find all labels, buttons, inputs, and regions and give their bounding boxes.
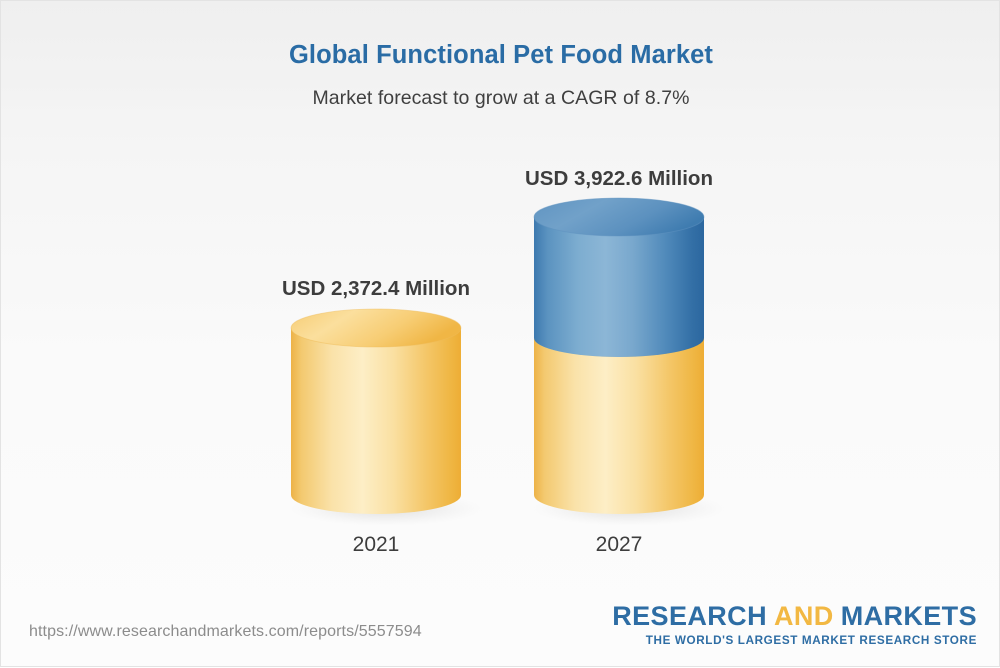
bar-2021 xyxy=(290,309,482,526)
logo-word-markets: MARKETS xyxy=(841,601,977,631)
source-url[interactable]: https://www.researchandmarkets.com/repor… xyxy=(29,623,422,641)
plot-area: USD 2,372.4 Million USD 3,922.6 Million … xyxy=(1,1,1000,668)
chart-canvas: Global Functional Pet Food Market Market… xyxy=(0,0,1000,667)
category-label-2021: 2021 xyxy=(291,533,461,557)
value-label-2021: USD 2,372.4 Million xyxy=(191,277,561,301)
logo-wordmark: RESEARCHANDMARKETS xyxy=(612,603,977,630)
category-label-2027: 2027 xyxy=(534,533,704,557)
bar-2027 xyxy=(533,198,725,526)
bar-graphics xyxy=(1,1,1000,668)
research-and-markets-logo[interactable]: RESEARCHANDMARKETS THE WORLD'S LARGEST M… xyxy=(612,603,977,647)
logo-word-research: RESEARCH xyxy=(612,601,767,631)
value-label-2027: USD 3,922.6 Million xyxy=(434,167,804,191)
logo-tagline: THE WORLD'S LARGEST MARKET RESEARCH STOR… xyxy=(612,635,977,647)
logo-word-and: AND xyxy=(767,601,841,631)
